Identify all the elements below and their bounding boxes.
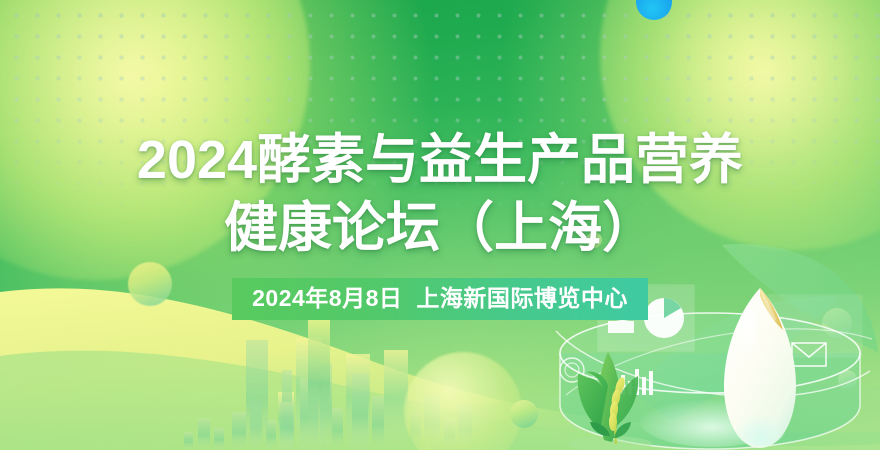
blue-bubble-icon bbox=[636, 0, 672, 20]
event-date: 2024年8月8日 bbox=[252, 285, 402, 311]
bottom-wave bbox=[0, 230, 880, 450]
event-venue: 上海新国际博览中心 bbox=[416, 285, 628, 311]
glow-bubble-2 bbox=[510, 400, 538, 428]
glass-disc-illustration bbox=[540, 235, 880, 450]
donut-ring-icon bbox=[560, 358, 584, 382]
glow-bubble-4 bbox=[838, 370, 857, 389]
title-line-2: 健康论坛（上海） bbox=[0, 194, 880, 262]
envelope-icon bbox=[792, 343, 826, 366]
line-chart-icon bbox=[740, 359, 776, 379]
event-info-band: 2024年8月8日上海新国际博览中心 bbox=[232, 278, 648, 320]
leaf-sprig-icon bbox=[556, 332, 666, 450]
bar-chart-icon bbox=[614, 369, 653, 395]
subtitle-container: 2024年8月8日上海新国际博览中心 bbox=[0, 278, 880, 320]
glow-bubble-large bbox=[404, 352, 522, 450]
event-banner: 2024酵素与益生产品营养 健康论坛（上海） 2024年8月8日上海新国际博览中… bbox=[0, 0, 880, 450]
title-line-1: 2024酵素与益生产品营养 bbox=[0, 126, 880, 194]
